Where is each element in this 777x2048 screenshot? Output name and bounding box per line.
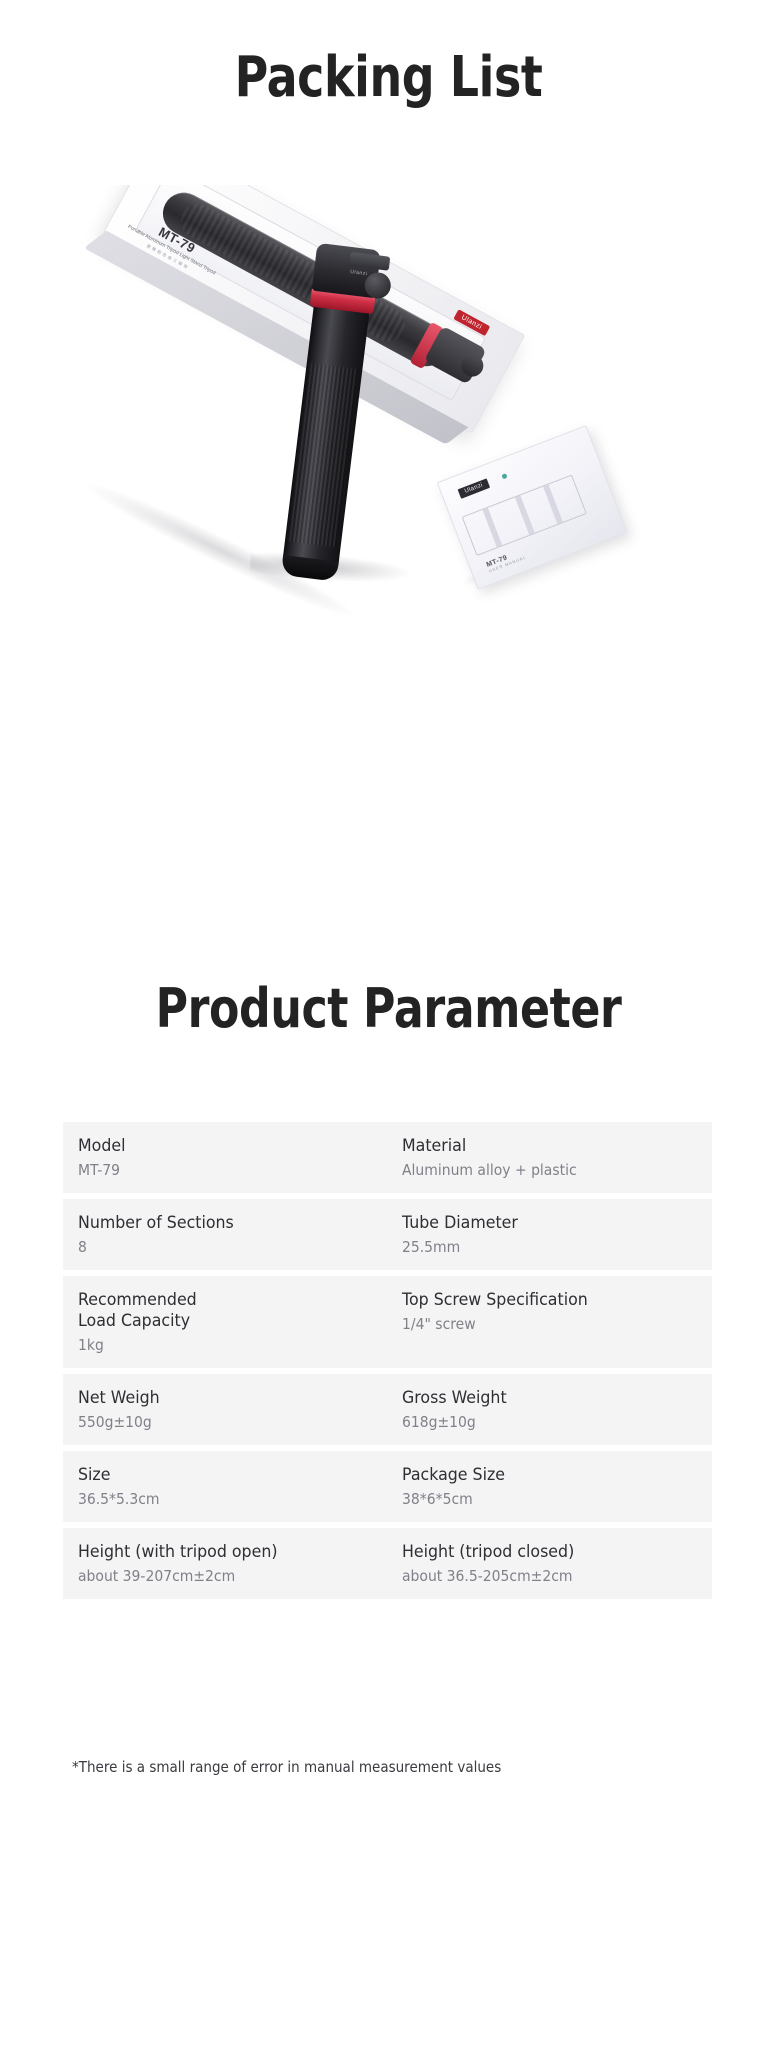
spec-label: Size xyxy=(78,1465,366,1486)
spec-label: Material xyxy=(402,1136,691,1157)
spec-value: about 39-207cm±2cm xyxy=(78,1566,366,1586)
user-manual: Ulanzi MT-79 USER MANUAL xyxy=(437,425,628,590)
spec-value: 1/4" screw xyxy=(402,1314,691,1334)
spec-cell-left: Recommended Load Capacity 1kg xyxy=(63,1290,388,1355)
spec-value: 8 xyxy=(78,1237,366,1257)
table-row: Model MT-79 Material Aluminum alloy + pl… xyxy=(63,1122,712,1193)
product-parameter-heading: Product Parameter xyxy=(70,974,707,1044)
spec-cell-left: Net Weigh 550g±10g xyxy=(63,1388,388,1432)
spec-label: Number of Sections xyxy=(78,1213,366,1234)
spec-label: Height (with tripod open) xyxy=(78,1542,366,1563)
spec-value: MT-79 xyxy=(78,1160,366,1180)
spec-value: 38*6*5cm xyxy=(402,1489,691,1509)
table-row: Recommended Load Capacity 1kg Top Screw … xyxy=(63,1276,712,1368)
measurement-footnote: *There is a small range of error in manu… xyxy=(72,1758,501,1776)
spec-value: about 36.5-205cm±2cm xyxy=(402,1566,691,1586)
packing-list-photo: Ulanzi MT-79 Portable Aluminum Tripod Li… xyxy=(0,185,777,805)
table-row: Net Weigh 550g±10g Gross Weight 618g±10g xyxy=(63,1374,712,1445)
spec-cell-left: Model MT-79 xyxy=(63,1136,388,1180)
spec-label: Net Weigh xyxy=(78,1388,366,1409)
table-row: Size 36.5*5.3cm Package Size 38*6*5cm xyxy=(63,1451,712,1522)
spec-cell-left: Number of Sections 8 xyxy=(63,1213,388,1257)
spec-label: Package Size xyxy=(402,1465,691,1486)
spec-label: Recommended Load Capacity xyxy=(78,1290,366,1332)
spec-label: Height (tripod closed) xyxy=(402,1542,691,1563)
spec-label: Gross Weight xyxy=(402,1388,691,1409)
spec-value: 36.5*5.3cm xyxy=(78,1489,366,1509)
packing-list-heading: Packing List xyxy=(70,42,707,114)
monopod-brand-text: Ulanzi xyxy=(350,269,368,277)
manual-model-text: MT-79 USER MANUAL xyxy=(486,548,528,574)
spec-cell-right: Tube Diameter 25.5mm xyxy=(388,1213,713,1257)
spec-cell-right: Material Aluminum alloy + plastic xyxy=(388,1136,713,1180)
spec-value: Aluminum alloy + plastic xyxy=(402,1160,691,1180)
spec-label: Model xyxy=(78,1136,366,1157)
spec-cell-right: Height (tripod closed) about 36.5-205cm±… xyxy=(388,1542,713,1586)
manual-cover: Ulanzi MT-79 USER MANUAL xyxy=(437,425,628,590)
spec-value: 618g±10g xyxy=(402,1412,691,1432)
manual-brand-logo: Ulanzi xyxy=(458,478,491,498)
spec-cell-right: Top Screw Specification 1/4" screw xyxy=(388,1290,713,1355)
spec-value: 25.5mm xyxy=(402,1237,691,1257)
spec-cell-right: Gross Weight 618g±10g xyxy=(388,1388,713,1432)
spec-value: 550g±10g xyxy=(78,1412,366,1432)
table-row: Height (with tripod open) about 39-207cm… xyxy=(63,1528,712,1599)
product-detail-page: Packing List Ulanzi MT-79 Portable Alumi… xyxy=(0,0,777,2048)
spec-cell-left: Height (with tripod open) about 39-207cm… xyxy=(63,1542,388,1586)
table-row: Number of Sections 8 Tube Diameter 25.5m… xyxy=(63,1199,712,1270)
monopod-quick-release-plate xyxy=(349,252,390,271)
spec-cell-right: Package Size 38*6*5cm xyxy=(388,1465,713,1509)
manual-accent-dot xyxy=(501,473,507,479)
spec-cell-left: Size 36.5*5.3cm xyxy=(63,1465,388,1509)
spec-table: Model MT-79 Material Aluminum alloy + pl… xyxy=(63,1122,712,1605)
spec-label: Top Screw Specification xyxy=(402,1290,691,1311)
spec-value: 1kg xyxy=(78,1335,366,1355)
spec-label: Tube Diameter xyxy=(402,1213,691,1234)
